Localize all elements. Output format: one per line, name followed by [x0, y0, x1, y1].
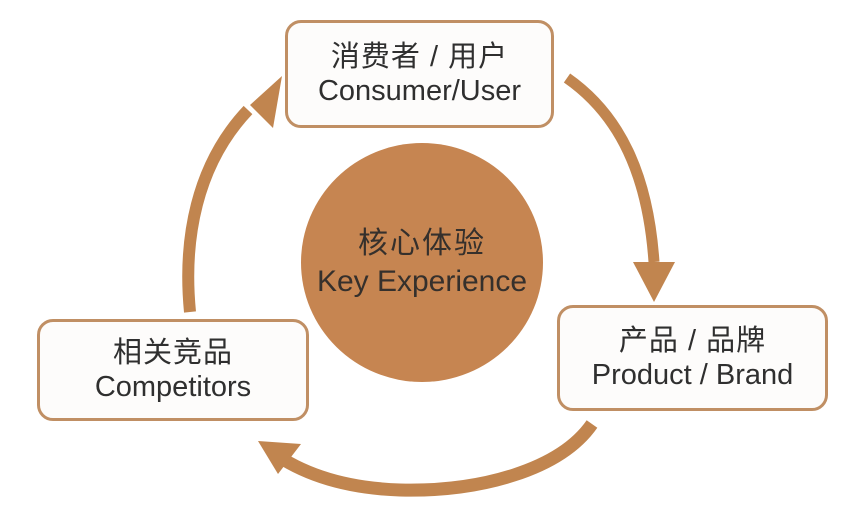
- arrow-product-to-competitors: [258, 424, 592, 490]
- diagram-canvas: 核心体验 Key Experience 消费者 / 用户 Consumer/Us…: [0, 0, 853, 511]
- arrow-competitors-to-consumer: [188, 76, 282, 312]
- node-product-brand[interactable]: 产品 / 品牌 Product / Brand: [557, 305, 828, 411]
- node-competitors-label-en: Competitors: [95, 370, 251, 404]
- center-circle-key-experience: 核心体验 Key Experience: [301, 143, 543, 382]
- arrow-consumer-to-product: [567, 78, 675, 302]
- node-consumer-user[interactable]: 消费者 / 用户 Consumer/User: [285, 20, 554, 128]
- node-competitors[interactable]: 相关竞品 Competitors: [37, 319, 309, 421]
- node-competitors-label-cn: 相关竞品: [113, 336, 233, 370]
- center-label-cn: 核心体验: [358, 225, 486, 263]
- node-consumer-label-cn: 消费者 / 用户: [331, 40, 508, 74]
- node-product-label-cn: 产品 / 品牌: [619, 324, 766, 358]
- node-consumer-label-en: Consumer/User: [318, 74, 521, 108]
- center-label-en: Key Experience: [317, 263, 527, 301]
- node-product-label-en: Product / Brand: [592, 358, 794, 392]
